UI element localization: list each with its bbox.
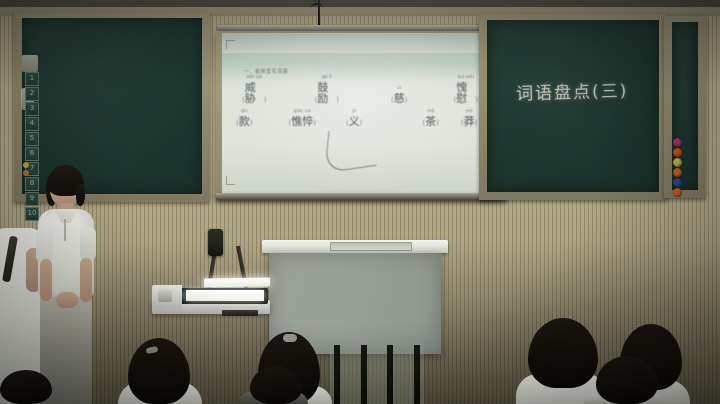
student-sleeve-left [36,227,53,263]
lectern-leg [414,345,420,404]
document-camera-side-detail [158,290,172,302]
lectern-leg [334,345,340,404]
document-camera-glass [186,290,264,301]
seated-hair [250,366,302,404]
student-arm-left [40,259,52,301]
student-ponytail [76,184,85,206]
lectern-leg [361,345,367,404]
student-hands [56,292,78,308]
document-camera-control-panel [222,310,258,316]
lectern-inset-slot [330,242,412,251]
document-camera-lamp [204,277,270,287]
seated-hair [0,370,52,404]
hair-clip [283,334,297,342]
document-camera-head [208,229,223,256]
student-arm-right [80,258,92,302]
lectern-leg [387,345,393,404]
student-shirt-placket [64,219,66,241]
classroom-screenshot: 1 2 3 4 5 6 7 8 9 10 一、看拼音写词语 ( 威胁 wēi x… [0,0,720,404]
student-sleeve-right [80,227,96,261]
lectern-legs [334,345,420,404]
